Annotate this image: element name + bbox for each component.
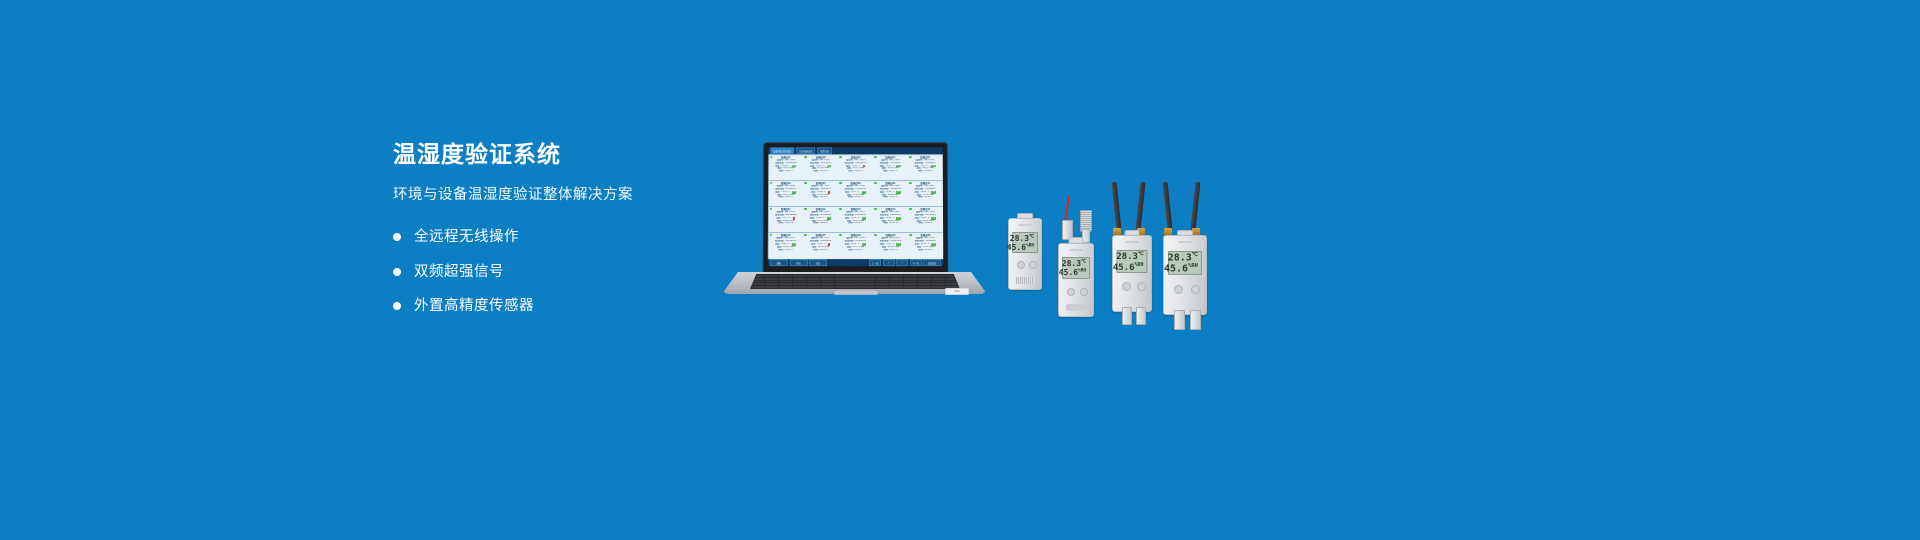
keyboard-key[interactable] <box>904 278 917 280</box>
keyboard-key[interactable] <box>835 286 848 288</box>
sensor-card-key: 时间: <box>779 170 784 173</box>
hero-banner: 温湿度验证系统 环境与设备温湿度验证整体解决方案 全远程无线操作 双频超强信号 … <box>0 0 1920 540</box>
tab-history[interactable]: 历史数据查询 <box>796 147 815 154</box>
keyboard-key[interactable] <box>821 286 834 288</box>
sensor-card-value: 10:06 % <box>924 222 932 225</box>
device-body: ENCON 28.3℃ 45.6%RH <box>1058 243 1094 317</box>
keyboard-key[interactable] <box>862 283 875 285</box>
app-toolbar: 刷新 打印 导出 上一页 1 2 下一页 返回首页 <box>768 259 944 266</box>
keyboard-key[interactable] <box>932 281 945 283</box>
lcd-humidity-line: 45.6%RH <box>1164 263 1198 274</box>
device-button-left[interactable] <box>1017 261 1025 269</box>
page-subtitle: 环境与设备温湿度验证整体解决方案 <box>393 185 723 205</box>
device-button-left[interactable] <box>1122 282 1131 291</box>
sensor-card[interactable]: 监测点03设备号:MB-T1603采集地址:100000010温度:23.91 … <box>838 155 872 180</box>
keyboard-key[interactable] <box>751 283 764 285</box>
sensor-card[interactable]: 监测点08设备号:MB-T1608采集地址:100000015温度:23.20 … <box>838 181 872 207</box>
device-body: ENCON 28.3℃ 45.6%RH <box>1163 235 1207 315</box>
hero-copy: 温湿度验证系统 环境与设备温湿度验证整体解决方案 全远程无线操作 双频超强信号 … <box>393 140 723 332</box>
sensor-card-key: 时间: <box>918 249 923 252</box>
keyboard-key[interactable] <box>807 278 820 280</box>
page-title: 温湿度验证系统 <box>393 140 723 168</box>
page-2-button[interactable]: 2 <box>896 259 908 266</box>
keyboard-key[interactable] <box>751 286 764 288</box>
antenna-icon <box>1136 182 1146 230</box>
keyboard-key[interactable] <box>946 283 959 285</box>
keyboard-key[interactable] <box>848 286 861 288</box>
keyboard-key[interactable] <box>765 275 778 277</box>
external-probe-icon <box>1190 310 1201 330</box>
keyboard-row <box>751 286 959 288</box>
sensor-card[interactable]: 监测点11设备号:MB-T1611采集地址:100000018温度:23.77 … <box>768 207 803 233</box>
sensor-card[interactable]: 监测点01设备号:MB-T1601采集地址:100000008温度:23.68 … <box>769 155 803 180</box>
sensor-card-value: 10:06 % <box>924 196 932 199</box>
keyboard-key[interactable] <box>918 275 931 277</box>
sensor-card-key: 时间: <box>918 170 923 173</box>
list-item: 全远程无线操作 <box>393 227 723 247</box>
next-page-button[interactable]: 下一页 <box>910 259 922 266</box>
laptop-illustration: 设备列表 实时监控 历史数据查询 报警查询 监测点01设备号:MB-T1601采… <box>722 142 987 302</box>
keyboard-key[interactable] <box>876 275 889 277</box>
device-brand-label: ENCON <box>1164 240 1206 244</box>
trackpad[interactable] <box>834 290 878 295</box>
sensor-card-row: 时间:10:06 % <box>839 196 871 199</box>
sensor-card-value: 10:06 % <box>855 249 863 252</box>
sensor-card-row: 时间:10:06 % <box>839 170 871 173</box>
app-tabbar: 设备列表 实时监控 历史数据查询 报警查询 <box>768 147 942 154</box>
sensor-card-row: 时间:10:06 % <box>839 249 871 252</box>
sensor-card-value: 10:06 % <box>820 222 828 225</box>
intel-sticker: intel <box>945 288 969 295</box>
keyboard-key[interactable] <box>848 283 861 285</box>
sensor-card-row: 时间:10:06 % <box>770 170 802 173</box>
external-probe-icon <box>1136 307 1146 325</box>
sensor-card[interactable]: 监测点07设备号:MB-T1607采集地址:100000014温度:24.66 … <box>803 181 837 207</box>
bullet-dot-icon <box>393 268 401 276</box>
sensor-card-value: 10:06 % <box>785 222 793 225</box>
prev-page-button[interactable]: 上一页 <box>869 259 881 266</box>
sensor-card-key: 时间: <box>883 170 888 173</box>
keyboard-key[interactable] <box>876 283 889 285</box>
sensor-card[interactable]: 监测点16设备号:MB-T1616采集地址:100000023温度:23.62 … <box>768 233 803 259</box>
keyboard-key[interactable] <box>876 278 889 280</box>
sensor-card-row: 时间:10:06 % <box>839 222 871 225</box>
sensor-card-value: 10:06 % <box>889 170 897 173</box>
sensor-card-key: 时间: <box>848 222 853 225</box>
keyboard-key[interactable] <box>807 275 820 277</box>
sensor-vent-icon <box>1067 304 1086 311</box>
device-button-right[interactable] <box>1137 282 1146 291</box>
sensor-card[interactable]: 监测点14设备号:MB-T1614采集地址:100000021温度:24.48 … <box>873 207 907 233</box>
keyboard-key[interactable] <box>807 286 820 288</box>
keyboard-key[interactable] <box>918 281 931 283</box>
lcd-humidity-line: 45.6%RH <box>1007 243 1034 252</box>
status-led-icon <box>909 208 912 210</box>
lcd-temperature-line: 28.3℃ <box>1062 259 1086 268</box>
external-probe-icon <box>1174 310 1185 330</box>
antenna-icon <box>1191 182 1201 230</box>
keyboard-row <box>751 283 959 285</box>
external-probe-icon <box>1122 307 1132 325</box>
keyboard-key[interactable] <box>835 275 848 277</box>
keyboard-key[interactable] <box>793 281 806 283</box>
sensor-card[interactable]: 监测点18设备号:MB-T1618采集地址:100000025温度:23.34 … <box>838 233 872 259</box>
device-logger-antenna-b: ENCON 28.3℃ 45.6%RH <box>1163 182 1207 315</box>
keyboard-key[interactable] <box>918 283 931 285</box>
sensor-card-key: 时间: <box>813 222 818 225</box>
sensor-card-row: 时间:10:06 % <box>909 196 941 199</box>
sensor-card-row: 时间:10:06 % <box>909 170 941 173</box>
bullet-dot-icon <box>393 302 401 310</box>
keyboard-key[interactable] <box>876 286 889 288</box>
sensor-card[interactable]: 监测点02设备号:MB-T1602采集地址:100000009温度:24.02 … <box>803 155 837 180</box>
sensor-card-key: 时间: <box>814 170 819 173</box>
antenna-connector-icon <box>1164 228 1172 235</box>
sensor-card-key: 时间: <box>883 222 888 225</box>
sensor-card[interactable]: 监测点19设备号:MB-T1619采集地址:100000026温度:22.61 … <box>873 233 908 259</box>
status-led-icon <box>839 208 842 210</box>
sensor-card-value: 10:06 % <box>855 170 863 173</box>
keyboard-key[interactable] <box>807 281 820 283</box>
keyboard-key[interactable] <box>918 278 931 280</box>
sensor-card[interactable]: 监测点04设备号:MB-T1604采集地址:100000011温度:22.74 … <box>873 155 907 180</box>
status-led-icon <box>909 182 912 184</box>
keyboard-key[interactable] <box>779 281 792 283</box>
keyboard-key[interactable] <box>807 283 820 285</box>
keyboard-row <box>751 278 959 280</box>
feature-list: 全远程无线操作 双频超强信号 外置高精度传感器 <box>393 227 723 316</box>
tab-realtime[interactable]: 设备列表 实时监控 <box>770 147 794 154</box>
list-item: 双频超强信号 <box>393 262 723 282</box>
sensor-card-key: 时间: <box>848 196 853 199</box>
keyboard-key[interactable] <box>765 278 778 280</box>
lcd-temperature-line: 28.3℃ <box>1168 252 1198 263</box>
sensor-card-row: 时间:10:06 % <box>874 196 906 199</box>
sensor-card-key: 时间: <box>848 170 853 173</box>
keyboard-key[interactable] <box>876 281 889 283</box>
sensor-card-value: 10:06 % <box>785 249 793 252</box>
sensor-card-value: 10:06 % <box>889 249 897 252</box>
laptop-screen: 设备列表 实时监控 历史数据查询 报警查询 监测点01设备号:MB-T1601采… <box>768 147 944 266</box>
keyboard-key[interactable] <box>793 283 806 285</box>
list-item: 外置高精度传感器 <box>393 296 723 316</box>
laptop-lid: 设备列表 实时监控 历史数据查询 报警查询 监测点01设备号:MB-T1601采… <box>763 142 949 276</box>
keyboard-key[interactable] <box>932 278 945 280</box>
keyboard-key[interactable] <box>848 281 861 283</box>
sensor-card-key: 时间: <box>883 196 888 199</box>
device-lineup: ENCON 28.3℃ 45.6%RH <box>1000 180 1230 320</box>
sensor-card-key: 时间: <box>848 249 853 252</box>
sensor-card-key: 时间: <box>918 196 923 199</box>
sensor-card-value: 10:06 % <box>785 170 793 173</box>
lcd-temperature-line: 28.3℃ <box>1010 234 1034 243</box>
keyboard-key[interactable] <box>779 275 792 277</box>
status-led-icon <box>839 156 841 158</box>
sensor-card-row: 时间:10:06 % <box>804 170 836 173</box>
keyboard-key[interactable] <box>890 275 903 277</box>
sensor-card-row: 时间:10:06 % <box>804 196 836 199</box>
device-logger-basic: ENCON 28.3℃ 45.6%RH <box>1008 218 1042 290</box>
keyboard-key[interactable] <box>821 281 834 283</box>
status-led-icon <box>874 208 877 210</box>
page-1-button[interactable]: 1 <box>883 259 895 266</box>
keyboard-key[interactable] <box>932 283 945 285</box>
sensor-card-row: 时间:10:06 % <box>769 249 801 252</box>
sensor-card-key: 时间: <box>883 249 888 252</box>
status-led-icon <box>804 182 807 184</box>
device-button-right[interactable] <box>1191 285 1200 294</box>
sensor-card-key: 时间: <box>778 249 783 252</box>
antenna-connector-icon <box>1192 228 1200 235</box>
device-lcd: 28.3℃ 45.6%RH <box>1062 257 1090 279</box>
device-logger-probe: ENCON 28.3℃ 45.6%RH <box>1058 200 1094 317</box>
device-button-right[interactable] <box>1029 261 1037 269</box>
sensor-card[interactable]: 监测点17设备号:MB-T1617采集地址:100000024温度:24.93 … <box>803 233 838 259</box>
sensor-card[interactable]: 监测点10设备号:MB-T1610采集地址:100000017温度:24.31 … <box>908 181 942 207</box>
status-led-icon <box>839 182 841 184</box>
sensor-card[interactable]: 监测点09设备号:MB-T1609采集地址:100000016温度:22.98 … <box>873 181 907 207</box>
laptop-base: intel <box>722 272 987 302</box>
lcd-humidity-line: 45.6%RH <box>1059 268 1086 277</box>
sensor-card-row: 时间:10:06 % <box>874 249 906 252</box>
sensor-card[interactable]: 监测点12设备号:MB-T1612采集地址:100000019温度:25.02 … <box>803 207 837 233</box>
keyboard-key[interactable] <box>835 283 848 285</box>
device-body: ENCON 28.3℃ 45.6%RH <box>1112 235 1152 312</box>
device-button-left[interactable] <box>1067 288 1075 296</box>
lcd-humidity-line: 45.6%RH <box>1113 262 1144 273</box>
keyboard-key[interactable] <box>848 278 861 280</box>
sensor-card-value: 10:06 % <box>820 196 828 199</box>
keyboard-key[interactable] <box>793 278 806 280</box>
print-button[interactable]: 打印 <box>789 259 807 266</box>
sensor-card[interactable]: 监测点05设备号:MB-T1605采集地址:100000012温度:25.10 … <box>908 155 942 180</box>
device-lcd: 28.3℃ 45.6%RH <box>1012 232 1038 253</box>
device-button-right[interactable] <box>1080 288 1088 296</box>
sensor-card-grid: 监测点01设备号:MB-T1601采集地址:100000008温度:23.68 … <box>768 154 943 259</box>
sensor-card-value: 10:06 % <box>820 249 828 252</box>
keyboard-key[interactable] <box>862 278 875 280</box>
keyboard-key[interactable] <box>779 286 792 288</box>
keyboard-key[interactable] <box>779 283 792 285</box>
feature-label: 外置高精度传感器 <box>414 296 534 316</box>
keyboard[interactable] <box>750 274 960 289</box>
keyboard-key[interactable] <box>904 283 917 285</box>
keyboard-key[interactable] <box>821 283 834 285</box>
sensor-card[interactable]: 监测点15设备号:MB-T1615采集地址:100000022温度:22.85 … <box>908 207 943 233</box>
keyboard-key[interactable] <box>890 283 903 285</box>
keyboard-key[interactable] <box>779 278 792 280</box>
sensor-card[interactable]: 监测点20设备号:MB-T1620采集地址:100000027温度:24.15 … <box>908 233 943 259</box>
device-brand-label: ENCON <box>1113 240 1151 244</box>
keyboard-key[interactable] <box>862 286 875 288</box>
sensor-card-value: 10:06 % <box>855 222 863 225</box>
keyboard-key[interactable] <box>848 275 861 277</box>
device-brand-label: ENCON <box>1009 223 1041 227</box>
keyboard-key[interactable] <box>821 275 834 277</box>
sensor-card-row: 时间:10:06 % <box>909 222 941 225</box>
sensor-card-value: 10:06 % <box>924 170 932 173</box>
sensor-card-row: 时间:10:06 % <box>769 222 801 225</box>
bullet-dot-icon <box>393 233 401 241</box>
sensor-card-value: 10:06 % <box>855 196 863 199</box>
status-led-icon <box>909 156 912 158</box>
sensor-card-value: 10:06 % <box>889 222 897 225</box>
sensor-card-row: 时间:10:06 % <box>874 170 906 173</box>
keyboard-key[interactable] <box>765 283 778 285</box>
device-body: ENCON 28.3℃ 45.6%RH <box>1008 218 1042 290</box>
device-lcd: 28.3℃ 45.6%RH <box>1168 251 1202 275</box>
antenna-icon <box>1163 182 1173 230</box>
keyboard-row <box>751 281 959 283</box>
sensor-card-row: 时间:10:06 % <box>804 249 836 252</box>
device-brand-label: ENCON <box>1059 248 1093 252</box>
sensor-card-key: 时间: <box>779 222 784 225</box>
sensor-card-row: 时间:10:06 % <box>909 249 941 252</box>
device-logger-antenna-a: ENCON 28.3℃ 45.6%RH <box>1112 182 1152 312</box>
sensor-card[interactable]: 监测点13设备号:MB-T1613采集地址:100000020温度:23.09 … <box>838 207 872 233</box>
sensor-card-value: 10:06 % <box>889 196 897 199</box>
device-lcd: 28.3℃ 45.6%RH <box>1117 250 1148 273</box>
antenna-connector-icon <box>1113 228 1121 235</box>
sensor-card-value: 10:06 % <box>820 170 828 173</box>
status-led-icon <box>805 156 807 158</box>
keyboard-key[interactable] <box>862 281 875 283</box>
refresh-button[interactable]: 刷新 <box>770 259 788 266</box>
sensor-card-row: 时间:10:06 % <box>804 222 836 225</box>
keyboard-key[interactable] <box>835 278 848 280</box>
lcd-temperature-line: 28.3℃ <box>1116 251 1143 262</box>
keyboard-key[interactable] <box>862 275 875 277</box>
sensor-card-key: 时间: <box>813 249 818 252</box>
sensor-card-row: 时间:10:06 % <box>874 222 906 225</box>
sensor-card-key: 时间: <box>918 222 923 225</box>
status-led-icon <box>874 182 876 184</box>
keyboard-key[interactable] <box>793 286 806 288</box>
keyboard-key[interactable] <box>765 286 778 288</box>
status-led-icon <box>770 156 773 158</box>
keyboard-key[interactable] <box>890 281 903 283</box>
feature-label: 全远程无线操作 <box>414 227 519 247</box>
status-led-icon <box>874 156 876 158</box>
antenna-icon <box>1112 182 1122 230</box>
keyboard-key[interactable] <box>932 275 945 277</box>
sensor-card-key: 时间: <box>779 196 784 199</box>
home-button[interactable]: 返回首页 <box>923 259 941 266</box>
keyboard-key[interactable] <box>835 281 848 283</box>
keyboard-key[interactable] <box>932 286 945 288</box>
device-button-left[interactable] <box>1174 285 1183 294</box>
tab-alarm[interactable]: 报警查询 <box>817 147 832 154</box>
sensor-card-row: 时间:10:06 % <box>770 196 802 199</box>
probe-cable-icon <box>1064 196 1070 222</box>
keyboard-key[interactable] <box>793 275 806 277</box>
sensor-card-key: 时间: <box>814 196 819 199</box>
sensor-vent-icon <box>1016 277 1034 284</box>
sensor-card[interactable]: 监测点06设备号:MB-T1606采集地址:100000013温度:23.45 … <box>769 181 803 207</box>
keyboard-key[interactable] <box>904 275 917 277</box>
export-button[interactable]: 导出 <box>809 259 827 266</box>
keyboard-key[interactable] <box>904 286 917 288</box>
keyboard-key[interactable] <box>890 286 903 288</box>
keyboard-key[interactable] <box>904 281 917 283</box>
keyboard-key[interactable] <box>765 281 778 283</box>
keyboard-key[interactable] <box>918 286 931 288</box>
keyboard-key[interactable] <box>890 278 903 280</box>
feature-label: 双频超强信号 <box>414 262 504 282</box>
keyboard-key[interactable] <box>821 278 834 280</box>
keyboard-row <box>751 275 959 277</box>
sensor-card-value: 10:06 % <box>924 249 932 252</box>
status-led-icon <box>770 182 773 184</box>
sensor-card-value: 10:06 % <box>785 196 793 199</box>
